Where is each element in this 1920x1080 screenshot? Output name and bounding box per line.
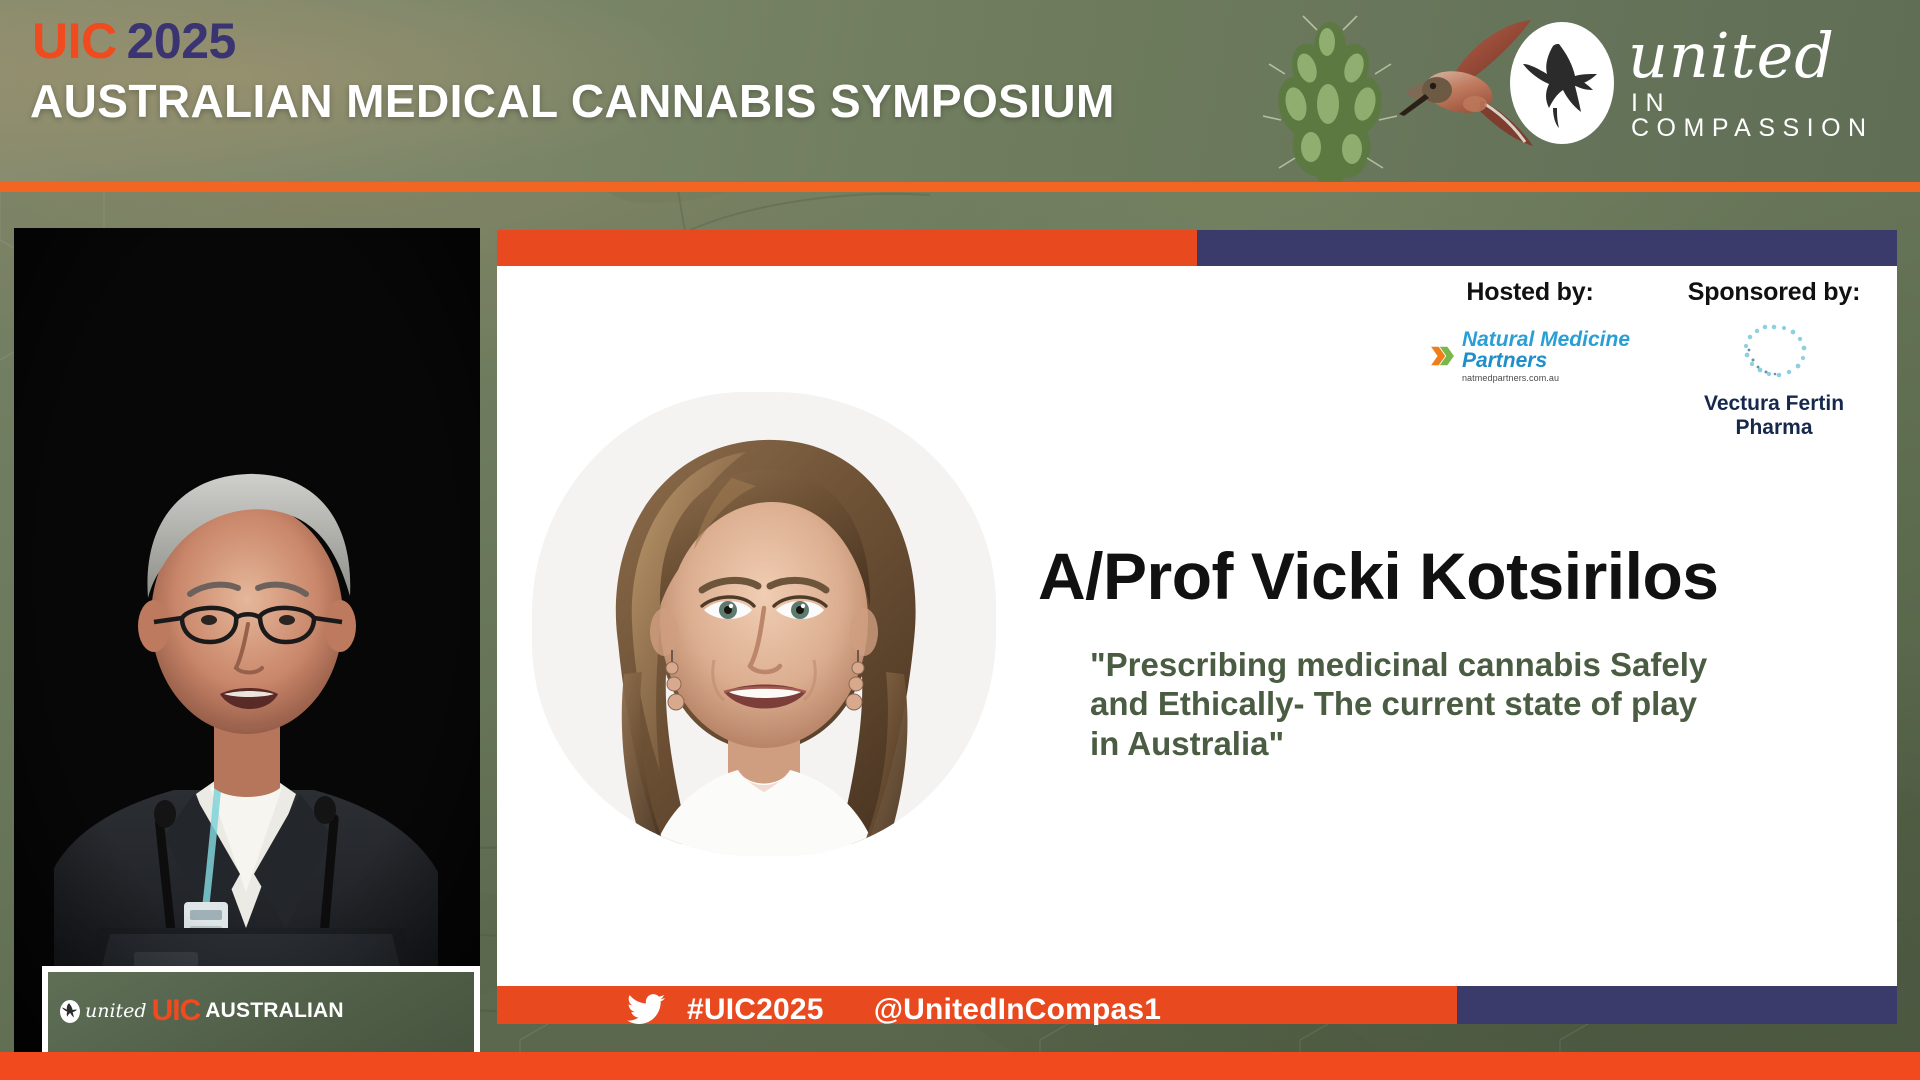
twitter-bird-icon[interactable] [627, 994, 665, 1026]
card-top-bar-navy [1197, 230, 1897, 266]
video-slide-brand-uic: UIC [152, 994, 201, 1028]
sponsor-wordmark: Vectura Fertin Pharma [1674, 392, 1874, 439]
sponsor-name-line2: Pharma [1674, 416, 1874, 440]
card-top-bar-orange [497, 230, 1197, 266]
logo-disc [1510, 22, 1614, 144]
host-name-line1: Natural Medicine [1462, 329, 1630, 350]
speaker-video-tile[interactable]: united UIC AUSTRALIAN [14, 228, 480, 1052]
host-name-line2: Partners [1462, 350, 1630, 371]
double-chevron-icon [1430, 335, 1455, 377]
social-hashtag[interactable]: #UIC2025 [687, 993, 824, 1027]
hummingbird-logo-icon [1523, 38, 1601, 128]
dotted-circle-icon [1732, 321, 1816, 383]
sponsored-by-label: Sponsored by: [1674, 278, 1874, 307]
talk-title: "Prescribing medicinal cannabis Safely a… [1090, 645, 1730, 763]
speaker-name: A/Prof Vicki Kotsirilos [1038, 543, 1718, 609]
video-slide-inner: united UIC AUSTRALIAN [48, 972, 474, 1052]
sponsored-by-column: Sponsored by: [1674, 278, 1874, 439]
card-top-accent-bars [497, 230, 1897, 266]
video-slide-overlay: united UIC AUSTRALIAN [42, 966, 480, 1052]
header-accent-rule [0, 182, 1920, 192]
video-slide-event-word: AUSTRALIAN [205, 999, 344, 1023]
logo-word-compassion: IN COMPASSION [1631, 91, 1900, 141]
presenter-at-podium-photo [14, 228, 480, 1052]
event-header: UIC2025 AUSTRALIAN MEDICAL CANNABIS SYMP… [0, 0, 1920, 188]
event-title: AUSTRALIAN MEDICAL CANNABIS SYMPOSIUM [30, 78, 1115, 124]
brand-uic-text: UIC [32, 13, 117, 69]
sponsor-name-line1: Vectura Fertin [1674, 392, 1874, 416]
social-footer: #UIC2025 @UnitedInCompas1 [497, 988, 1137, 1032]
video-slide-logo-disc [60, 1000, 80, 1023]
sponsor-logo: Vectura Fertin Pharma [1674, 321, 1874, 439]
video-slide-lockup: united UIC AUSTRALIAN [60, 994, 344, 1028]
card-bottom-bar-navy [1457, 986, 1897, 1024]
host-logo: Natural Medicine Partners natmedpartners… [1430, 329, 1630, 383]
speaker-portrait-photo [532, 392, 996, 856]
portrait-mask [532, 392, 996, 856]
hosted-by-column: Hosted by: Natural Medicine Partners nat… [1430, 278, 1630, 439]
video-slide-word-united: united [85, 1000, 147, 1022]
hosted-by-label: Hosted by: [1430, 278, 1630, 307]
brand-lockup: UIC2025 [32, 16, 236, 66]
speaker-portrait [532, 392, 996, 856]
credits-row: Hosted by: Natural Medicine Partners nat… [1430, 278, 1880, 439]
host-wordmark: Natural Medicine Partners natmedpartners… [1462, 329, 1630, 383]
logo-wordmark: united IN COMPASSION [1628, 25, 1900, 141]
broadcast-stage: UIC2025 AUSTRALIAN MEDICAL CANNABIS SYMP… [0, 0, 1920, 1080]
organisation-logo: united IN COMPASSION [1510, 22, 1900, 144]
bottom-accent-strip [0, 1052, 1920, 1080]
host-url: natmedpartners.com.au [1462, 374, 1630, 383]
social-handle[interactable]: @UnitedInCompas1 [874, 993, 1161, 1027]
brand-year-text: 2025 [127, 13, 236, 69]
logo-word-united: united [1628, 25, 1900, 87]
